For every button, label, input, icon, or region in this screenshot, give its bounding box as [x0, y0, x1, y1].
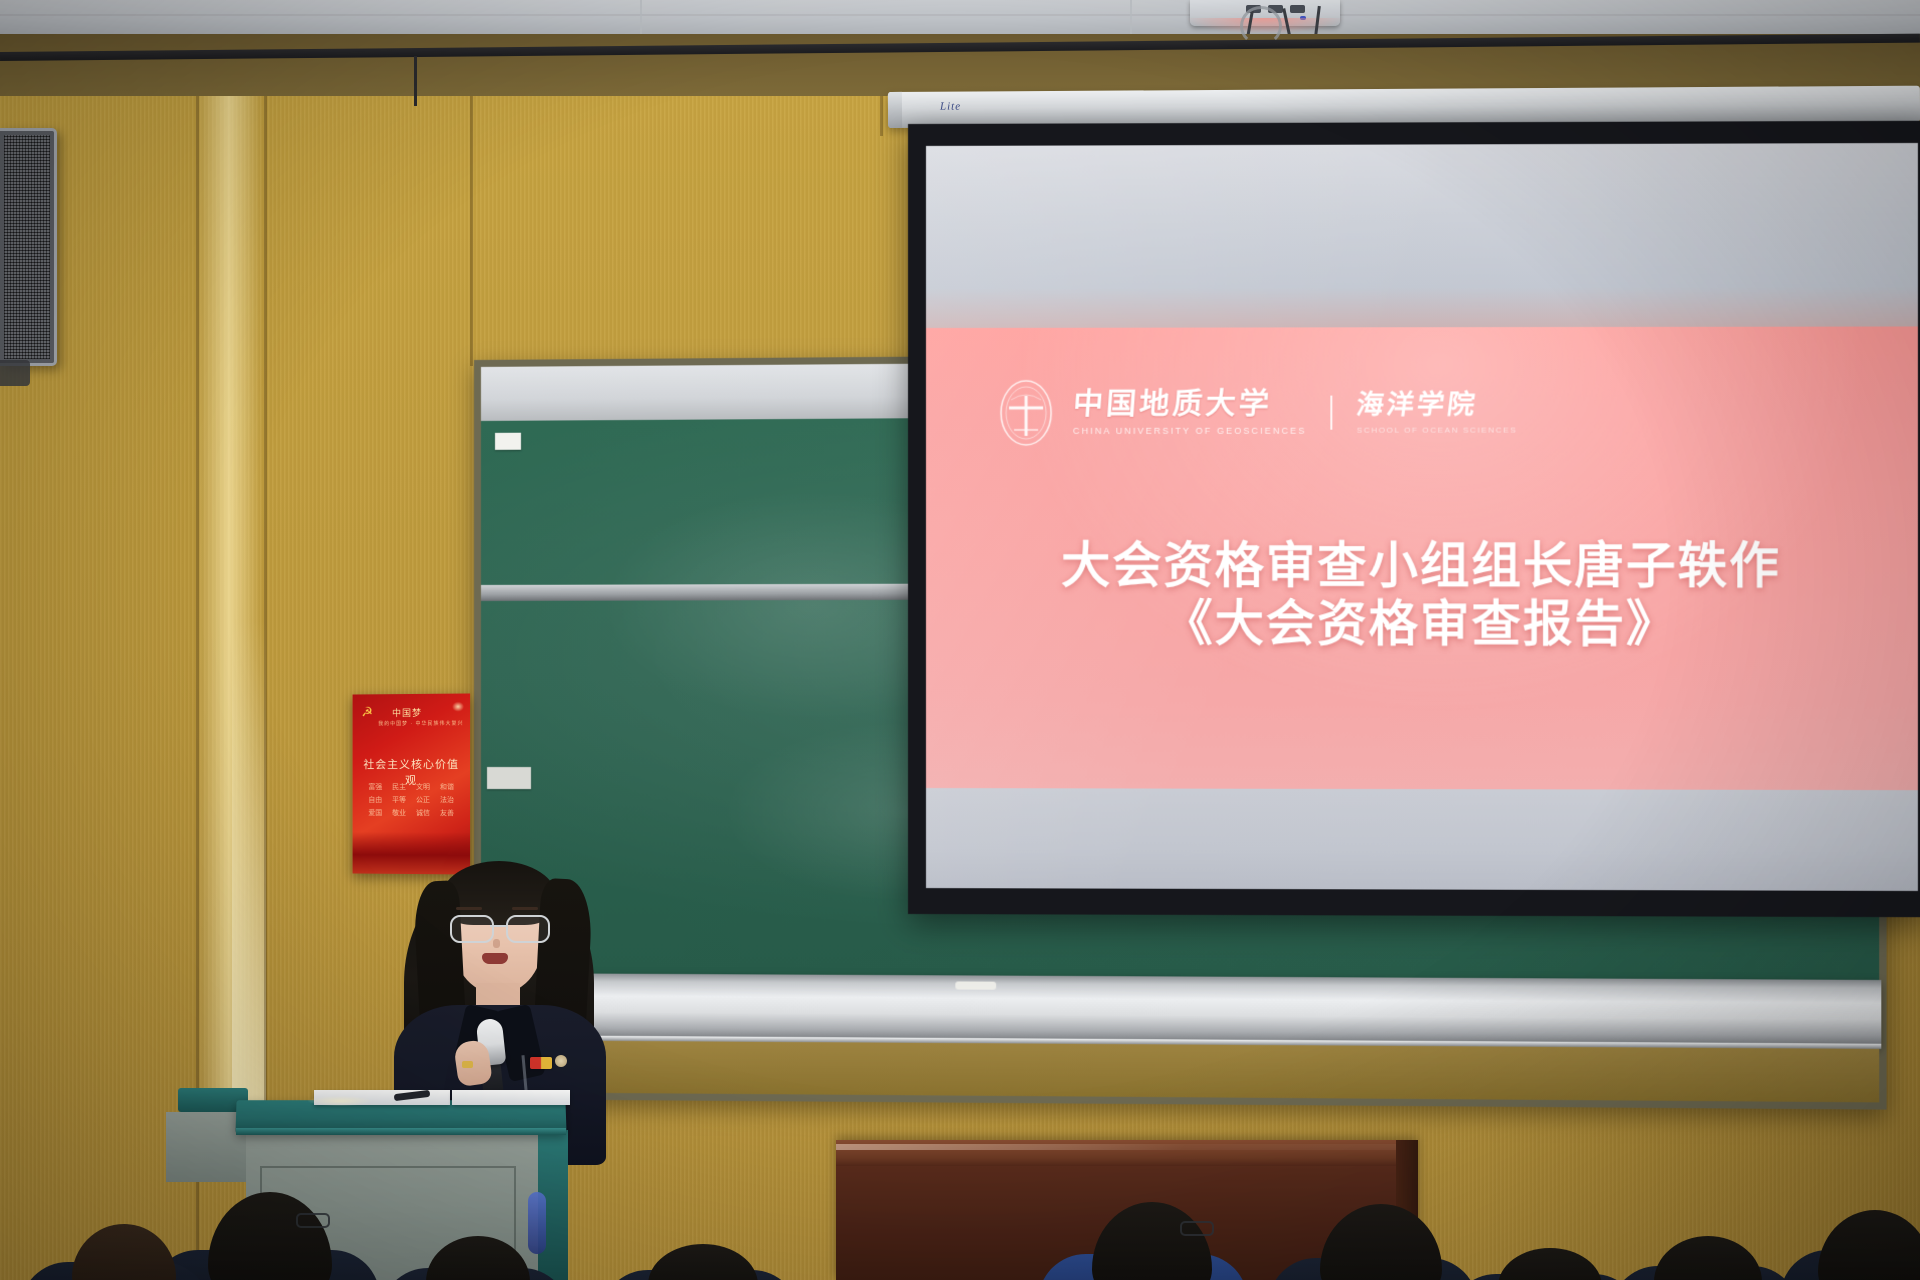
speaker-bracket [0, 360, 30, 386]
audience-head [1092, 1202, 1212, 1280]
poster-value: 文明 [412, 782, 434, 792]
ceiling-panel-line [640, 0, 642, 34]
presenter-nose [493, 939, 500, 948]
slide-headline: 大会资格审查小组组长唐子轶作 《大会资格审查报告》 [926, 539, 1918, 655]
audience-front-row [0, 1130, 1920, 1280]
school-name-block: 海洋学院 SCHOOL OF OCEAN SCIENCES [1357, 391, 1517, 434]
roller-brand-label: Lite [940, 101, 961, 113]
audience-head [1654, 1236, 1762, 1280]
audience-glasses-icon [1180, 1221, 1214, 1236]
audience-glasses-icon [296, 1213, 330, 1228]
glasses-bridge [490, 925, 506, 927]
poster-value: 和谐 [436, 782, 458, 792]
poster-value: 公正 [412, 795, 434, 805]
glasses-lens-left [450, 915, 494, 943]
speaker-mesh [4, 135, 50, 359]
university-crest-icon [997, 378, 1055, 448]
poster-top-title: 中国梦 [392, 706, 422, 719]
projection-screen: 中国地质大学 CHINA UNIVERSITY OF GEOSCIENCES 海… [908, 121, 1920, 917]
presenter-eyebrow [456, 907, 482, 910]
cable-hook [414, 56, 417, 106]
wall-speaker [0, 128, 57, 366]
audience-head [208, 1192, 332, 1280]
lecture-hall-photo: Lite [0, 0, 1920, 1280]
audience-head [1498, 1248, 1602, 1280]
party-emblem-icon: ☭ [361, 705, 377, 719]
lectern-light-reflection [308, 1096, 372, 1106]
poster-value: 友善 [436, 808, 458, 818]
presenter-eyebrow [512, 907, 538, 910]
party-emblem-pin [530, 1057, 552, 1069]
presentation-slide: 中国地质大学 CHINA UNIVERSITY OF GEOSCIENCES 海… [926, 143, 1918, 891]
wall-seam [880, 96, 883, 136]
school-name-cn: 海洋学院 [1355, 391, 1519, 418]
chalk-stick [955, 981, 996, 989]
audience-head [72, 1224, 176, 1280]
poster-value: 自由 [364, 795, 386, 805]
wall-seam [470, 96, 473, 366]
university-name-cn: 中国地质大学 [1072, 390, 1308, 420]
poster-top-subtitle: 我的中国梦 · 中华民族伟大复兴 [378, 720, 463, 728]
university-name-en: CHINA UNIVERSITY OF GEOSCIENCES [1073, 426, 1306, 436]
poster-value: 爱国 [364, 808, 386, 818]
glasses-lens-right [506, 915, 550, 943]
presenter-ring [462, 1061, 473, 1068]
slide-main-band: 中国地质大学 CHINA UNIVERSITY OF GEOSCIENCES 海… [926, 326, 1918, 790]
logo-divider [1331, 396, 1333, 430]
poster-value: 民主 [388, 782, 410, 792]
poster-value: 平等 [388, 795, 410, 805]
presenter-mouth [482, 953, 508, 964]
university-name-block: 中国地质大学 CHINA UNIVERSITY OF GEOSCIENCES [1073, 390, 1306, 436]
ceiling-seam [0, 14, 1920, 16]
poster-values-grid: 富强 民主 文明 和谐 自由 平等 公正 法治 爱国 敬业 诚信 友善 [364, 782, 458, 818]
poster-value: 敬业 [388, 808, 410, 818]
ceiling [0, 0, 1920, 34]
chalkboard-paper-scrap [495, 433, 521, 450]
audience-head [1818, 1210, 1920, 1280]
school-name-en: SCHOOL OF OCEAN SCIENCES [1357, 425, 1517, 434]
slide-bottom-band [926, 788, 1918, 891]
headline-line-1: 大会资格审查小组组长唐子轶作 [926, 539, 1918, 594]
socialist-core-values-poster: ☭ 中国梦 我的中国梦 · 中华民族伟大复兴 社会主义核心价值观 富强 民主 文… [353, 693, 471, 874]
poster-highlight [452, 702, 464, 712]
lapel-pin [555, 1055, 567, 1067]
chalkboard-lower-wall [481, 1040, 1879, 1102]
slide-top-band [926, 143, 1918, 328]
roller-end-cap [888, 92, 902, 128]
cable-loop [1240, 6, 1282, 46]
university-logo: 中国地质大学 CHINA UNIVERSITY OF GEOSCIENCES 海… [997, 378, 1517, 449]
poster-value: 诚信 [412, 808, 434, 818]
poster-value: 富强 [364, 782, 386, 792]
chalkboard-card [487, 767, 531, 789]
audience-head [1320, 1204, 1442, 1280]
poster-value: 法治 [436, 795, 458, 805]
audience-head [426, 1236, 530, 1280]
screen-surface: 中国地质大学 CHINA UNIVERSITY OF GEOSCIENCES 海… [926, 143, 1918, 891]
wall-highlight [232, 620, 266, 1160]
projector-port [1290, 5, 1305, 13]
glasses-icon [450, 915, 548, 939]
headline-line-2: 《大会资格审查报告》 [926, 594, 1918, 655]
ceiling-panel-line [1130, 0, 1132, 34]
lectern-document [452, 1090, 570, 1105]
audience-head [648, 1244, 758, 1280]
